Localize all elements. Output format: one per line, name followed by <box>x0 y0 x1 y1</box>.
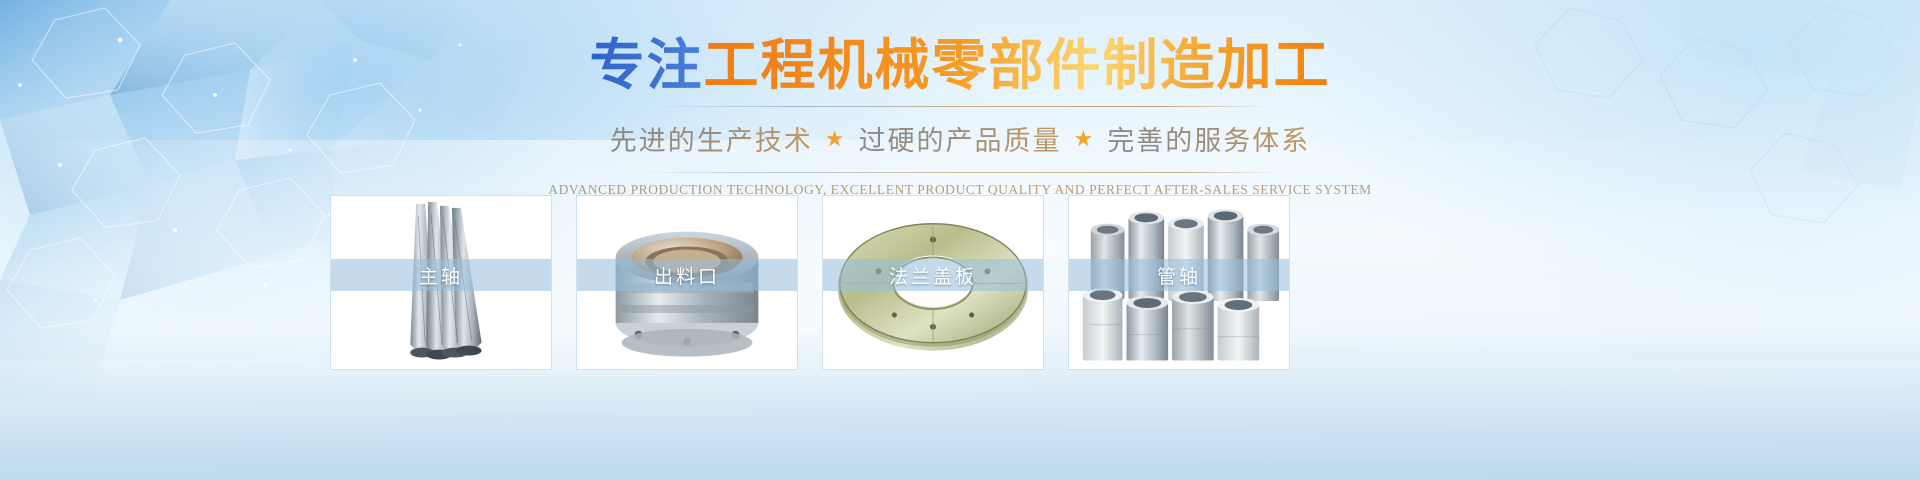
card-label: 主轴 <box>419 262 463 289</box>
banner-text-block: 专注工程机械零部件制造加工 先进的生产技术 ★ 过硬的产品质量 ★ 完善的服务体… <box>0 34 1920 198</box>
card-label: 管轴 <box>1157 262 1201 289</box>
subtitle-divider <box>636 172 1284 173</box>
card-label-band: 主轴 <box>331 259 551 291</box>
product-card[interactable]: 主轴 <box>330 195 552 370</box>
subtitle-line: 先进的生产技术 ★ 过硬的产品质量 ★ 完善的服务体系 <box>0 119 1920 158</box>
card-label: 出料口 <box>654 262 720 289</box>
card-label-band: 出料口 <box>577 259 797 291</box>
title-divider <box>650 106 1270 107</box>
card-label: 法兰盖板 <box>889 262 977 289</box>
card-label-band: 法兰盖板 <box>823 259 1043 291</box>
subtitle-segment-1: 先进的生产技术 <box>610 119 813 158</box>
star-icon: ★ <box>1074 128 1096 150</box>
product-card-row: 主轴 <box>330 195 1545 370</box>
card-label-band: 管轴 <box>1069 259 1289 291</box>
star-icon: ★ <box>825 128 847 150</box>
title-part-blue: 专注 <box>589 34 703 96</box>
product-card[interactable]: 管轴 <box>1068 195 1290 370</box>
page-title: 专注工程机械零部件制造加工 <box>0 34 1920 96</box>
product-card[interactable]: 出料口 <box>576 195 798 370</box>
product-card[interactable]: 法兰盖板 <box>822 195 1044 370</box>
promotional-banner: 专注工程机械零部件制造加工 先进的生产技术 ★ 过硬的产品质量 ★ 完善的服务体… <box>0 0 1920 480</box>
title-part-orange: 工程机械零部件制造加工 <box>704 34 1331 96</box>
subtitle-segment-3: 完善的服务体系 <box>1107 119 1310 158</box>
subtitle-segment-2: 过硬的产品质量 <box>859 119 1062 158</box>
